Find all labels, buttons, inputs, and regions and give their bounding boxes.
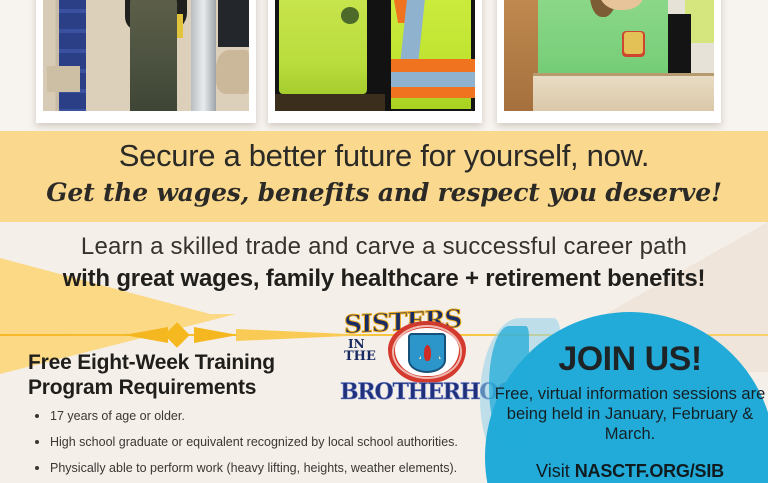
- logo-word-brotherhood: BROTHERHOOD: [340, 379, 470, 405]
- photo-1-hand: [216, 50, 249, 95]
- divider-diamond-icon: [164, 322, 189, 347]
- emblem-shield: [408, 333, 446, 373]
- emblem-ring-text: CARPENTERS: [388, 321, 466, 326]
- photo-3-dark-sleeve: [666, 14, 691, 80]
- photo-image-2: [275, 0, 475, 111]
- photo-2-tool-belt: [275, 94, 385, 111]
- photo-3-art: [504, 0, 714, 111]
- list-item: High school graduate or equivalent recog…: [28, 434, 508, 450]
- cta-heading: JOIN US!: [485, 340, 768, 378]
- poster-canvas: Secure a better future for yourself, now…: [0, 0, 768, 483]
- photo-1-art: [43, 0, 249, 111]
- banner-headline-script: Get the wages, benefits and respect you …: [0, 177, 768, 209]
- photo-2-silver-band: [391, 72, 475, 87]
- list-item: Physically able to perform work (heavy l…: [28, 460, 508, 476]
- photo-2-art: [275, 0, 475, 111]
- carpenters-union-emblem-icon: CARPENTERS: [388, 321, 466, 383]
- banner-headline-primary: Secure a better future for yourself, now…: [0, 137, 768, 175]
- photo-card-woman-carpenter: [497, 0, 721, 123]
- subheadline-block: Learn a skilled trade and carve a succes…: [0, 222, 768, 302]
- photo-1-tool: [173, 14, 183, 38]
- photo-strip: [0, 0, 768, 131]
- photo-card-hivis-workers: [268, 0, 482, 123]
- emblem-plumb-bob-icon: [424, 345, 431, 361]
- photo-1-box: [47, 66, 80, 92]
- headline-banner: Secure a better future for yourself, now…: [0, 131, 768, 222]
- subheadline-line-1: Learn a skilled trade and carve a succes…: [0, 232, 768, 262]
- photo-2-orange-band-1: [391, 59, 475, 72]
- cta-body-text: Free, virtual information sessions are b…: [487, 384, 768, 444]
- photo-3-shirt-logo-inner: [624, 32, 643, 54]
- photo-image-1: [43, 0, 249, 111]
- photo-card-worker-ladder: [36, 0, 256, 123]
- cta-visit-line[interactable]: Visit NASCTF.ORG/SIB: [487, 460, 768, 482]
- photo-image-3: [504, 0, 714, 111]
- photo-2-orange-band-2: [391, 87, 475, 98]
- photo-1-dark-edge: [218, 0, 249, 47]
- photo-3-lumber: [533, 76, 714, 111]
- subheadline-line-2: with great wages, family healthcare + re…: [0, 264, 768, 294]
- divider-arrow-right-icon: [194, 327, 238, 343]
- logo-word-the: THE: [344, 350, 376, 364]
- cta-visit-prefix: Visit: [536, 461, 575, 481]
- requirements-list: 17 years of age or older. High school gr…: [28, 408, 508, 483]
- sisters-in-the-brotherhood-logo: SISTERS IN THE CARPENTERS BROTHERHOOD: [338, 305, 470, 415]
- cta-visit-url[interactable]: NASCTF.ORG/SIB: [575, 461, 724, 481]
- divider-arrow-left-icon: [124, 327, 168, 343]
- photo-2-patch: [341, 7, 359, 24]
- photo-1-metal-track: [191, 0, 216, 111]
